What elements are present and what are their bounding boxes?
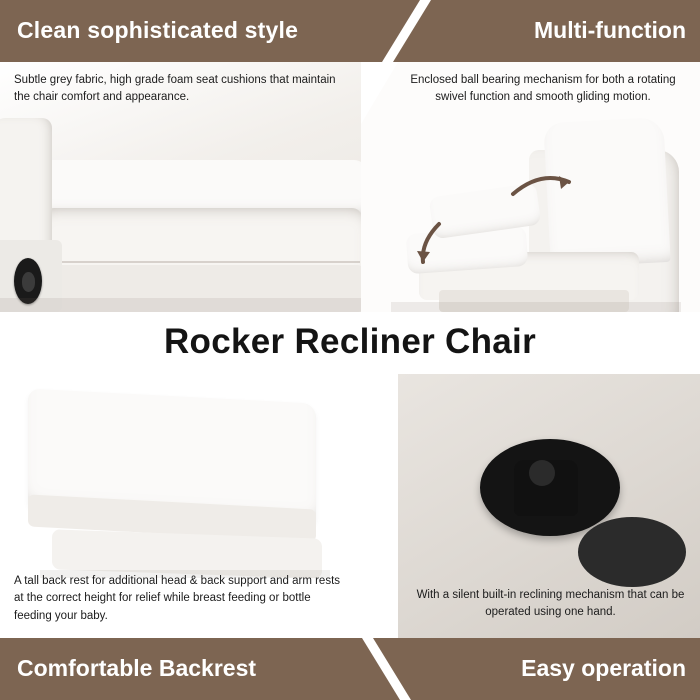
product-infographic: Clean sophisticated style Multi-function bbox=[0, 0, 700, 700]
top-right-caption: Enclosed ball bearing mechanism for both… bbox=[397, 72, 689, 107]
bottom-right-header: Easy operation bbox=[440, 655, 695, 682]
page-title: Rocker Recliner Chair bbox=[0, 322, 700, 362]
photo-floor-shadow bbox=[0, 298, 398, 312]
bottom-left-caption: A tall back rest for additional head & b… bbox=[14, 573, 344, 625]
bottom-banner: Comfortable Backrest Easy operation bbox=[0, 638, 700, 700]
top-right-header: Multi-function bbox=[455, 17, 695, 44]
bottom-panel-row: A tall back rest for additional head & b… bbox=[0, 374, 700, 638]
recline-handle-inner-shape bbox=[22, 272, 35, 292]
handle-bezel-inner-shape bbox=[578, 517, 686, 587]
bottom-left-header: Comfortable Backrest bbox=[17, 655, 367, 682]
chair-backrest-shape bbox=[38, 160, 368, 214]
chair-seat-seam bbox=[48, 261, 360, 263]
top-panel-row: Subtle grey fabric, high grade foam seat… bbox=[0, 62, 700, 312]
bottom-right-caption: With a silent built-in reclining mechani… bbox=[408, 587, 693, 622]
bottom-left-panel: A tall back rest for additional head & b… bbox=[0, 374, 398, 638]
top-left-header: Clean sophisticated style bbox=[17, 17, 377, 44]
top-banner: Clean sophisticated style Multi-function bbox=[0, 0, 700, 62]
top-left-caption: Subtle grey fabric, high grade foam seat… bbox=[14, 72, 344, 107]
handle-lever-notch-shape bbox=[529, 460, 555, 486]
